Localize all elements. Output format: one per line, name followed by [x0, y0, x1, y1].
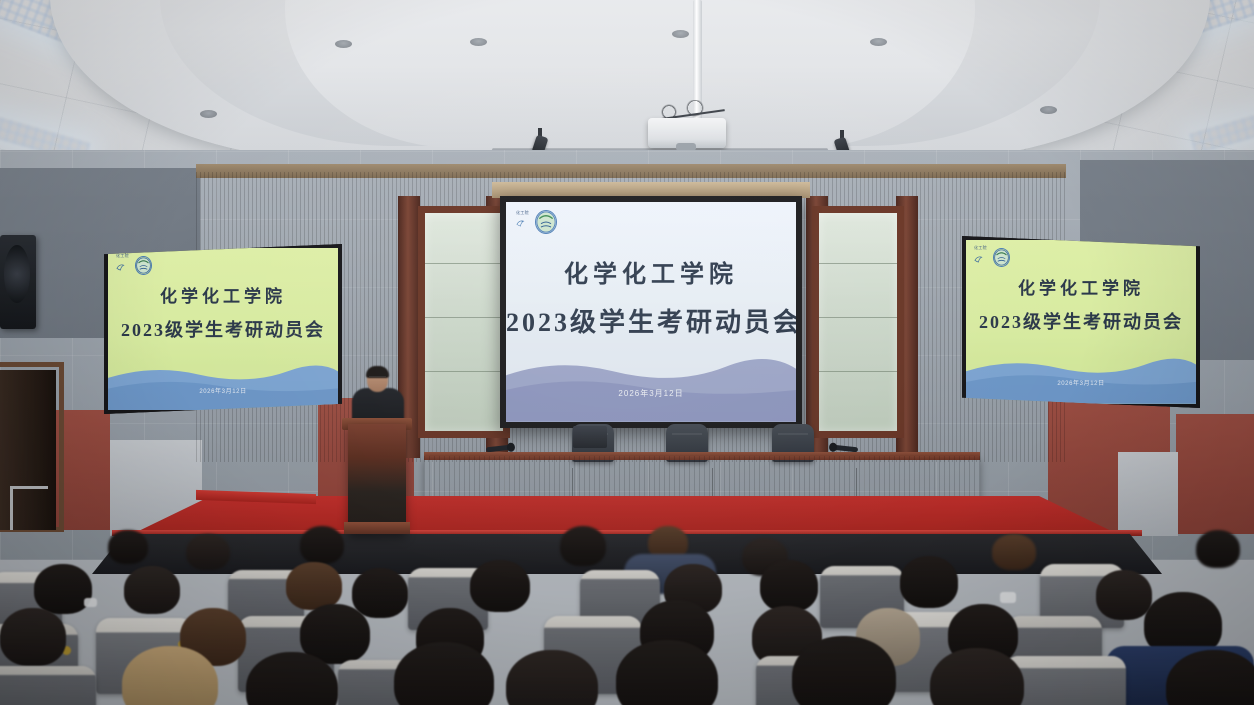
left-slide: 化工院 化学化工学院 2023级学生考研动员会 2026年3月12日 [108, 248, 338, 410]
audience-head [1096, 570, 1152, 620]
audience-head [760, 560, 818, 612]
bird-logo-icon [116, 261, 125, 272]
audience-head [0, 608, 66, 666]
right-side-screen: 化工院 化学化工学院 2023级学生考研动员会 2026年3月12日 [962, 236, 1200, 408]
downlight-icon [470, 38, 487, 46]
college-emblem-icon [993, 248, 1010, 267]
downlight-icon [672, 30, 689, 38]
slide-date: 2026年3月12日 [108, 386, 338, 395]
face-mask [1000, 592, 1016, 603]
audience-head [900, 556, 958, 608]
backdrop-glass-panel-right [812, 206, 904, 438]
wall-wainscot-right [1176, 414, 1254, 534]
downlight-icon [870, 38, 887, 46]
audience-head [792, 636, 896, 705]
audience-area [0, 520, 1254, 705]
auditorium-photo: 化工院 化学化工学院 2023级学生考研动员会 2026年3月12日 [0, 0, 1254, 705]
bird-logo-icon [974, 253, 983, 264]
slide-wave-decoration [108, 355, 338, 410]
audience-head [560, 526, 606, 566]
audience-head [124, 566, 180, 614]
audience-head [186, 534, 230, 570]
audience-head [992, 534, 1036, 570]
college-emblem-icon [535, 210, 557, 234]
main-projection-screen: 化工院 化学化工学院 2023级学生考研动员会 2026年3月12日 [500, 196, 802, 428]
slide-wave-decoration [506, 347, 796, 422]
slide-logo-group: 化工院 [116, 254, 152, 277]
slide-logo-group: 化工院 [974, 246, 1010, 269]
university-wordmark-logo: 化工院 [516, 211, 529, 234]
main-slide: 化工院 化学化工学院 2023级学生考研动员会 2026年3月12日 [506, 202, 796, 422]
audience-head [34, 564, 92, 614]
downlight-icon [1040, 106, 1057, 114]
slide-title-line2: 2023级学生考研动员会 [108, 316, 338, 342]
downlight-icon [335, 40, 352, 48]
audience-head [1196, 530, 1240, 568]
audience-head [470, 560, 530, 612]
slide-logo-group: 化工院 [516, 210, 557, 234]
university-wordmark-logo: 化工院 [974, 246, 987, 269]
wooden-podium [348, 424, 406, 534]
laptop-on-table [573, 426, 607, 448]
auditorium-seat[interactable] [0, 666, 96, 705]
ceiling-soffit-core [285, 0, 975, 148]
audience-head [352, 568, 408, 618]
backdrop-glass-panel-left [418, 206, 510, 438]
university-wordmark-logo: 化工院 [116, 254, 129, 277]
slide-date: 2026年3月12日 [506, 388, 796, 399]
slide-title-line1: 化学化工学院 [506, 254, 796, 289]
bird-logo-icon [516, 217, 525, 228]
left-side-screen: 化工院 化学化工学院 2023级学生考研动员会 2026年3月12日 [104, 244, 342, 414]
audience-head [286, 562, 342, 610]
slide-title-line1: 化学化工学院 [108, 282, 338, 307]
audience-head [300, 526, 344, 564]
glasses-icon [369, 376, 386, 380]
slide-title-line1: 化学化工学院 [966, 274, 1196, 299]
slide-title-line2: 2023级学生考研动员会 [506, 302, 796, 339]
face-mask [84, 598, 97, 607]
audience-head [108, 530, 148, 564]
slide-wave-decoration [966, 348, 1196, 404]
downlight-icon [200, 110, 217, 118]
right-slide: 化工院 化学化工学院 2023级学生考研动员会 2026年3月12日 [966, 240, 1196, 404]
wall-loudspeaker [0, 235, 36, 329]
slide-title-line2: 2023级学生考研动员会 [966, 308, 1196, 334]
college-emblem-icon [135, 256, 152, 275]
slide-date: 2026年3月12日 [966, 378, 1196, 387]
